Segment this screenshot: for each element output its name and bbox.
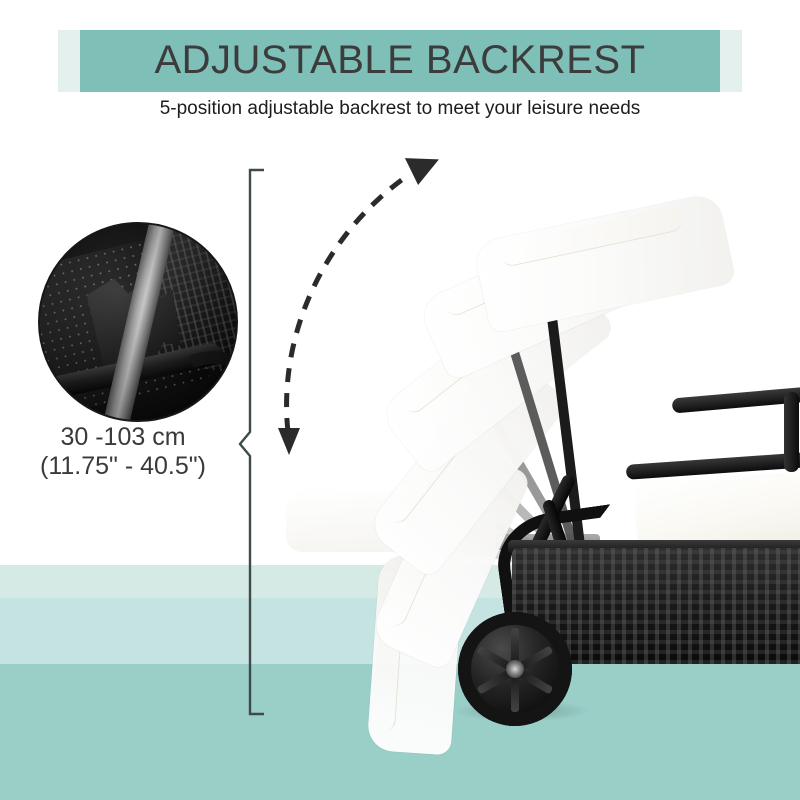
- detail-vignette: [40, 224, 236, 420]
- dimension-label-metric: 30 -103 cm: [12, 423, 234, 452]
- armrest-upper-rail: [672, 385, 800, 413]
- page-title: ADJUSTABLE BACKREST: [80, 30, 720, 92]
- dimension-label-imperial: (11.75" - 40.5"): [12, 452, 234, 481]
- transport-wheel: [458, 612, 572, 726]
- height-range-bracket: [238, 168, 266, 716]
- header-banner-core: ADJUSTABLE BACKREST: [80, 30, 720, 92]
- header-banner: ADJUSTABLE BACKREST: [58, 30, 742, 92]
- wheel-hub: [506, 660, 524, 678]
- infographic-canvas: 30 -103 cm (11.75" - 40.5") ADJUSTABLE B…: [0, 0, 800, 800]
- ratchet-mechanism-closeup: [38, 222, 238, 422]
- backrest-rotation-arc: [262, 140, 522, 460]
- armrest-support-post: [784, 392, 799, 472]
- page-subtitle: 5-position adjustable backrest to meet y…: [0, 98, 800, 120]
